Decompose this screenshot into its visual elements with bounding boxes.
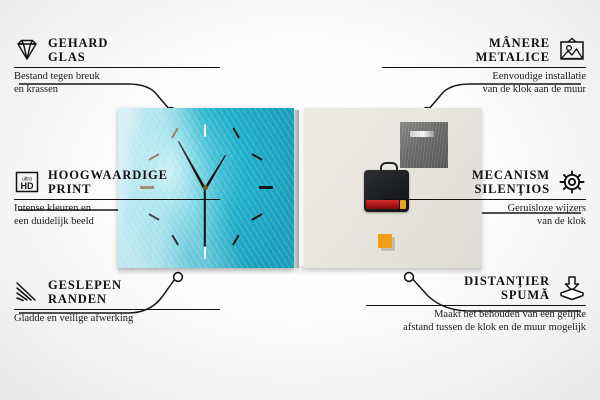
feature-header: MÂNERE METALICE — [382, 36, 586, 64]
feature-description: Bestand tegen breuk en krassen — [14, 71, 220, 96]
feature-foam-spacer: DISTANŢIER SPUMĂ Maakt het behouden van … — [366, 274, 586, 334]
picture-frame-icon — [558, 37, 586, 63]
feature-title: MÂNERE METALICE — [476, 36, 550, 64]
tick-6 — [204, 246, 206, 259]
ultra-hd-icon: ultra HD — [14, 170, 40, 194]
spacer-stack-icon — [558, 275, 586, 301]
tick-12 — [204, 124, 206, 137]
svg-text:HD: HD — [21, 181, 34, 191]
beveled-edges-icon — [14, 280, 40, 304]
gear-icon — [558, 169, 586, 195]
infographic-canvas: GEHARD GLAS Bestand tegen breuk en krass… — [0, 0, 600, 400]
feature-tempered-glass: GEHARD GLAS Bestand tegen breuk en krass… — [14, 36, 220, 96]
feature-silent-mechanism: MECANISM SILENŢIOS Geruisloze wijzers va… — [382, 168, 586, 228]
foam-spacer — [378, 234, 392, 248]
feature-divider — [366, 305, 586, 306]
tick-2 — [251, 153, 263, 161]
feature-divider — [14, 67, 220, 68]
feature-divider — [382, 199, 586, 200]
tick-10 — [148, 153, 160, 161]
feature-divider — [14, 309, 220, 310]
feature-description: Intense kleuren en een duidelijk beeld — [14, 203, 220, 228]
feature-title: MECANISM SILENŢIOS — [472, 168, 550, 196]
feature-header: ultra HD HOOGWAARDIGE PRINT — [14, 168, 220, 196]
feature-metal-handles: MÂNERE METALICE Eenvoudige installatie v… — [382, 36, 586, 96]
feature-description: Gladde en veilige afwerking — [14, 313, 220, 326]
feature-header: DISTANŢIER SPUMĂ — [366, 274, 586, 302]
feature-divider — [382, 67, 586, 68]
feature-title: GESLEPEN RANDEN — [48, 278, 122, 306]
feature-description: Maakt het behouden van een gelijke afsta… — [366, 309, 586, 334]
feature-description: Geruisloze wijzers van de klok — [382, 203, 586, 228]
clock-glass-edge — [294, 110, 299, 268]
tick-3 — [259, 186, 273, 189]
feature-divider — [14, 199, 220, 200]
feature-title: DISTANŢIER SPUMĂ — [464, 274, 550, 302]
feature-header: GESLEPEN RANDEN — [14, 278, 220, 306]
feature-title: GEHARD GLAS — [48, 36, 108, 64]
tick-1 — [232, 127, 240, 139]
tick-5 — [232, 234, 240, 246]
metal-hanger-plate — [400, 122, 448, 168]
tick-11 — [171, 127, 179, 139]
hanger-slot — [410, 131, 434, 137]
tick-7 — [171, 234, 179, 246]
feature-title: HOOGWAARDIGE PRINT — [48, 168, 168, 196]
feature-description: Eenvoudige installatie van de klok aan d… — [382, 71, 586, 96]
diamond-icon — [14, 38, 40, 62]
feature-header: MECANISM SILENŢIOS — [382, 168, 586, 196]
feature-header: GEHARD GLAS — [14, 36, 220, 64]
tick-4 — [251, 213, 263, 221]
feature-hd-print: ultra HD HOOGWAARDIGE PRINT Intense kleu… — [14, 168, 220, 228]
feature-beveled-edges: GESLEPEN RANDEN Gladde en veilige afwerk… — [14, 278, 220, 326]
